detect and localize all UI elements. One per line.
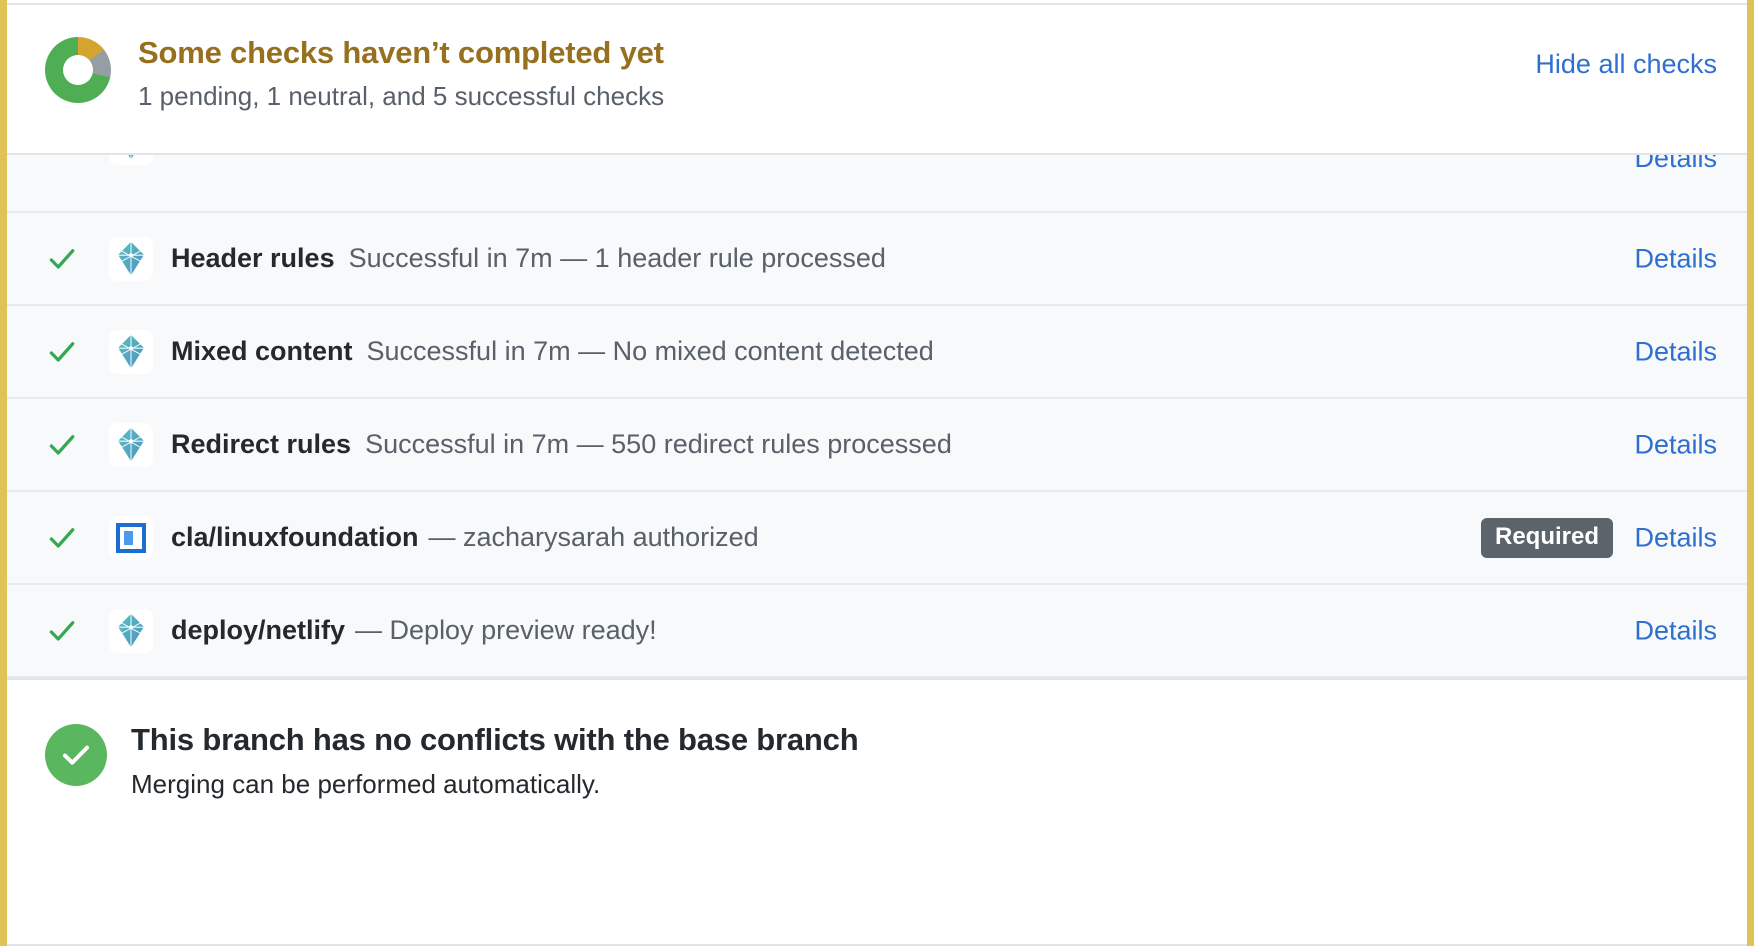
- check-mark-icon: [45, 614, 79, 648]
- linux-foundation-icon: [109, 516, 153, 560]
- check-name: deploy/netlify: [171, 615, 345, 646]
- checks-summary-title: Some checks haven’t completed yet: [138, 31, 664, 75]
- merge-status-subtitle: Merging can be performed automatically.: [131, 765, 858, 803]
- check-row[interactable]: Redirect rules Successful in 7m — 550 re…: [7, 399, 1747, 492]
- details-link[interactable]: Details: [1634, 429, 1717, 460]
- checks-list: Pages changed Completed in 7m — 2094 new…: [7, 153, 1747, 678]
- status-badge-required: Required: [1481, 518, 1613, 558]
- details-link[interactable]: Details: [1634, 153, 1717, 174]
- details-link[interactable]: Details: [1634, 522, 1717, 553]
- merge-status-section: This branch has no conflicts with the ba…: [7, 678, 1747, 946]
- check-row-main: Header rules Successful in 7m — 1 header…: [171, 243, 886, 274]
- check-name: cla/linuxfoundation: [171, 522, 419, 553]
- neutral-square-icon: [45, 153, 79, 155]
- check-description: Successful in 7m — No mixed content dete…: [367, 336, 934, 367]
- check-mark-icon: [45, 428, 79, 462]
- details-link[interactable]: Details: [1634, 243, 1717, 274]
- details-link[interactable]: Details: [1634, 336, 1717, 367]
- check-mark-icon: [45, 242, 79, 276]
- check-row-main: deploy/netlify — Deploy preview ready!: [171, 615, 657, 646]
- checks-donut-chart: [45, 37, 111, 103]
- check-name: Redirect rules: [171, 429, 351, 460]
- check-row[interactable]: Header rules Successful in 7m — 1 header…: [7, 213, 1747, 306]
- checks-summary-header: Some checks haven’t completed yet 1 pend…: [7, 5, 1747, 153]
- netlify-diamond-icon: [109, 153, 153, 165]
- checks-summary-subtitle: 1 pending, 1 neutral, and 5 successful c…: [138, 77, 664, 115]
- check-row[interactable]: deploy/netlify — Deploy preview ready! D…: [7, 585, 1747, 678]
- check-mark-icon: [45, 521, 79, 555]
- check-description: Successful in 7m — 550 redirect rules pr…: [365, 429, 952, 460]
- check-row[interactable]: cla/linuxfoundation — zacharysarah autho…: [7, 492, 1747, 585]
- merge-status-texts: This branch has no conflicts with the ba…: [131, 718, 858, 803]
- check-description: — zacharysarah authorized: [429, 522, 759, 553]
- check-row[interactable]: Pages changed Completed in 7m — 2094 new…: [7, 155, 1747, 213]
- merge-status-title: This branch has no conflicts with the ba…: [131, 718, 858, 762]
- check-description: Successful in 7m — 1 header rule process…: [349, 243, 886, 274]
- check-mark-icon: [45, 335, 79, 369]
- netlify-diamond-icon: [109, 330, 153, 374]
- check-row-main: cla/linuxfoundation — zacharysarah autho…: [171, 522, 759, 553]
- check-name: Header rules: [171, 243, 335, 274]
- check-name: Mixed content: [171, 336, 353, 367]
- check-row-main: Redirect rules Successful in 7m — 550 re…: [171, 429, 952, 460]
- check-row-main: Mixed content Successful in 7m — No mixe…: [171, 336, 934, 367]
- checks-summary-texts: Some checks haven’t completed yet 1 pend…: [138, 31, 664, 115]
- netlify-diamond-icon: [109, 609, 153, 653]
- netlify-diamond-icon: [109, 237, 153, 281]
- pull-request-merge-box: Some checks haven’t completed yet 1 pend…: [0, 0, 1754, 946]
- check-circle-icon: [45, 724, 107, 786]
- check-description: — Deploy preview ready!: [355, 615, 657, 646]
- details-link[interactable]: Details: [1634, 615, 1717, 646]
- netlify-diamond-icon: [109, 423, 153, 467]
- check-row[interactable]: Mixed content Successful in 7m — No mixe…: [7, 306, 1747, 399]
- hide-all-checks-link[interactable]: Hide all checks: [1535, 49, 1717, 80]
